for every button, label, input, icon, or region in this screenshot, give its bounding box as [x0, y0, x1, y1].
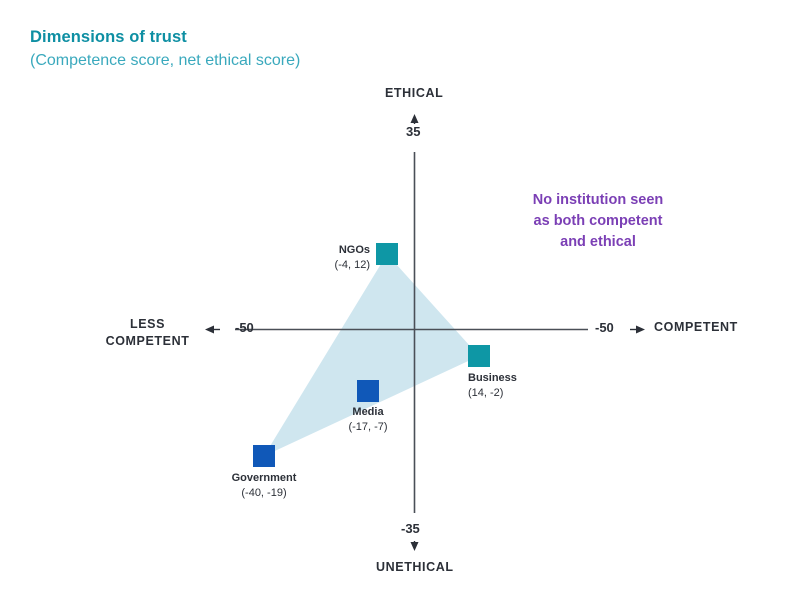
data-point-business[interactable] [468, 345, 490, 367]
data-point-government[interactable] [253, 445, 275, 467]
marker-square-government [253, 445, 275, 467]
axis-tick-right: -50 [595, 320, 614, 335]
axis-label-unethical: UNETHICAL [376, 560, 454, 574]
annotation-line-2: as both competent [498, 211, 698, 232]
data-label-media-name: Media [324, 405, 412, 420]
data-label-government: Government (-40, -19) [202, 471, 326, 501]
data-label-business: Business (14, -2) [468, 371, 517, 401]
data-point-ngos[interactable] [376, 243, 398, 265]
marker-square-ngos [376, 243, 398, 265]
axis-label-less-competent: LESS COMPETENT [95, 316, 200, 350]
axis-tick-left: -50 [235, 320, 254, 335]
data-label-ngos-value: (-4, 12) [258, 258, 370, 273]
annotation-text: No institution seen as both competent an… [498, 190, 698, 253]
data-label-government-name: Government [202, 471, 326, 486]
axis-label-less-competent-line1: LESS [130, 317, 165, 331]
data-label-media: Media (-17, -7) [324, 405, 412, 435]
data-label-business-value: (14, -2) [468, 386, 517, 401]
data-point-media[interactable] [357, 380, 379, 402]
chart-canvas: Dimensions of trust (Competence score, n… [0, 0, 801, 604]
data-label-ngos-name: NGOs [258, 243, 370, 258]
axis-tick-bottom: -35 [401, 521, 420, 536]
data-label-media-value: (-17, -7) [324, 420, 412, 435]
axis-label-competent: COMPETENT [654, 320, 738, 334]
axis-label-less-competent-line2: COMPETENT [106, 334, 190, 348]
marker-square-business [468, 345, 490, 367]
data-label-ngos: NGOs (-4, 12) [258, 243, 370, 273]
data-label-government-value: (-40, -19) [202, 486, 326, 501]
axis-tick-top: 35 [406, 124, 420, 139]
data-label-business-name: Business [468, 371, 517, 386]
annotation-line-1: No institution seen [498, 190, 698, 211]
marker-square-media [357, 380, 379, 402]
annotation-line-3: and ethical [498, 232, 698, 253]
axis-label-ethical: ETHICAL [385, 86, 443, 100]
